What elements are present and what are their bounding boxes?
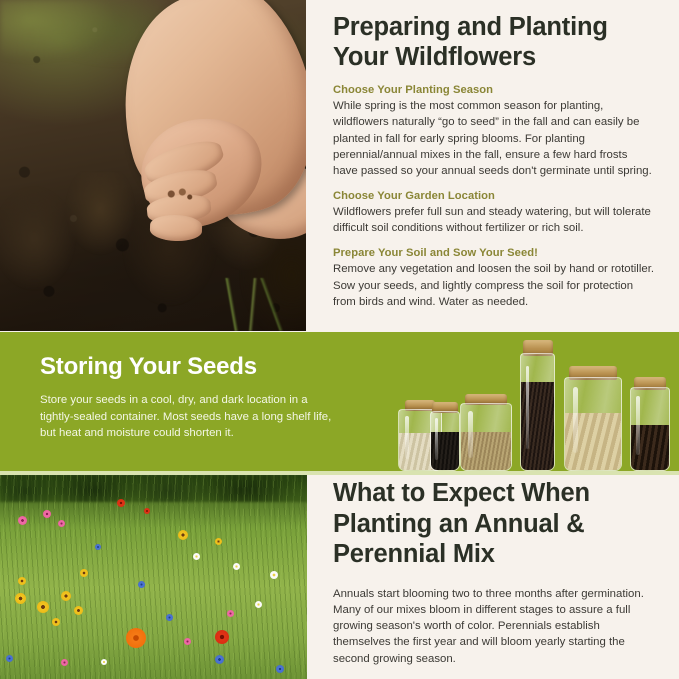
glass-body (630, 387, 670, 471)
storing-seeds-body: Store your seeds in a cool, dry, and dar… (40, 392, 340, 442)
what-to-expect-body: Annuals start blooming two to three mont… (333, 586, 655, 667)
flower-yellow (215, 538, 222, 545)
seed-jar (460, 403, 512, 471)
flower-yellow (61, 591, 71, 601)
body-prepare-soil: Remove any vegetation and loosen the soi… (333, 261, 655, 310)
glass-highlight (526, 366, 529, 450)
seed-jars-photo (392, 336, 652, 471)
glass-highlight (573, 387, 579, 453)
planting-season-block: Choose Your Planting Season While spring… (333, 84, 655, 179)
flower-pink (43, 510, 51, 518)
seeds-in-hand (162, 185, 199, 205)
garden-location-block: Choose Your Garden Location Wildflowers … (333, 190, 655, 236)
flower-red (144, 508, 150, 514)
wildflower-meadow-photo (0, 475, 307, 679)
glass-body (460, 403, 512, 471)
flower-pink (61, 659, 68, 666)
flower-blue (166, 614, 173, 621)
seed-jar (520, 353, 555, 471)
flower-white (101, 659, 107, 665)
flower-red (117, 499, 125, 507)
flower-yellow (18, 577, 26, 585)
glass-highlight (636, 396, 640, 455)
infographic-page: Preparing and Planting Your Wildflowers … (0, 0, 679, 679)
seed-jar (564, 377, 622, 471)
glass-body (520, 353, 555, 471)
flower-white (255, 601, 262, 608)
glass-highlight (405, 416, 409, 459)
seed-jar (630, 387, 670, 471)
glass-body (430, 411, 460, 471)
flower-pink (18, 516, 27, 525)
flower-pink (184, 638, 191, 645)
seed-jar (430, 411, 460, 471)
flower-yellow (74, 606, 83, 615)
prepare-soil-block: Prepare Your Soil and Sow Your Seed! Rem… (333, 247, 655, 310)
flower-yellow (80, 569, 88, 577)
flower-white (270, 571, 278, 579)
flower-red (215, 630, 229, 644)
flower-blue (276, 665, 284, 673)
flower-yellow (178, 530, 188, 540)
body-planting-season: While spring is the most common season f… (333, 98, 655, 179)
page-title: Preparing and Planting Your Wildflowers (333, 12, 655, 72)
flower-blue (6, 655, 13, 662)
storing-seeds-title: Storing Your Seeds (40, 354, 340, 380)
preparing-planting-text-block: Preparing and Planting Your Wildflowers … (333, 0, 679, 331)
flower-white (233, 563, 240, 570)
flower-cluster (0, 475, 307, 679)
glass-highlight (468, 411, 473, 459)
flower-pink (227, 610, 234, 617)
flower-white (193, 553, 200, 560)
flower-pink (58, 520, 65, 527)
subheading-garden-location: Choose Your Garden Location (333, 190, 655, 202)
storing-seeds-text-block: Storing Your Seeds Store your seeds in a… (40, 354, 340, 442)
soil-planting-photo (0, 0, 306, 331)
flower-blue (215, 655, 224, 664)
storing-seeds-section: Storing Your Seeds Store your seeds in a… (0, 332, 679, 471)
flower-orange (126, 628, 146, 648)
what-to-expect-text-block: What to Expect When Planting an Annual &… (333, 478, 679, 679)
soil-photo-artwork (0, 0, 306, 331)
subheading-prepare-soil: Prepare Your Soil and Sow Your Seed! (333, 247, 655, 259)
flower-yellow (37, 601, 49, 613)
glass-highlight (435, 418, 438, 460)
flower-blue (138, 581, 145, 588)
flower-yellow (15, 593, 26, 604)
flower-blue (95, 544, 101, 550)
subheading-planting-season: Choose Your Planting Season (333, 84, 655, 96)
glass-body (564, 377, 622, 471)
flower-yellow (52, 618, 60, 626)
what-to-expect-title: What to Expect When Planting an Annual &… (333, 478, 655, 570)
body-garden-location: Wildflowers prefer full sun and steady w… (333, 204, 655, 236)
grass-blades (159, 278, 306, 331)
